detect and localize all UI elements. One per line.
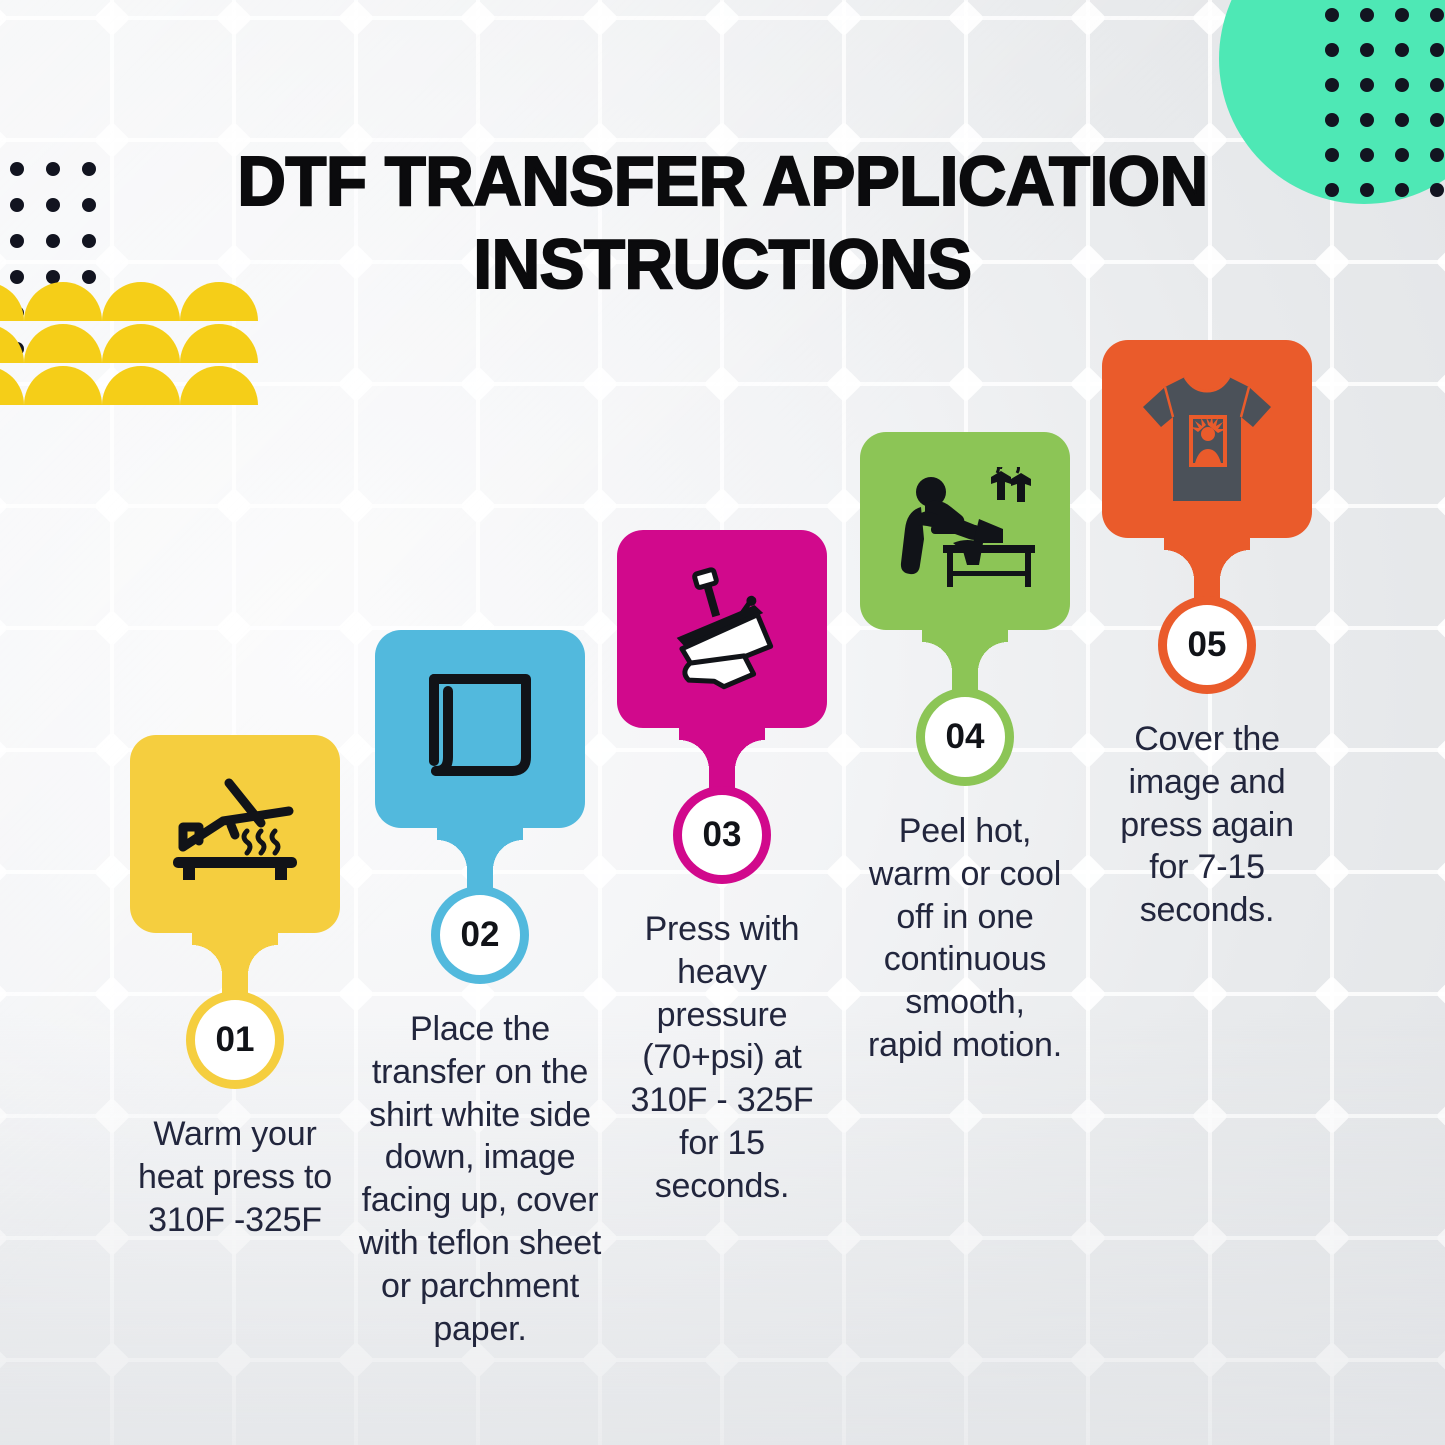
step-connector-03 bbox=[709, 726, 735, 792]
heat-press-open-icon bbox=[165, 775, 305, 893]
step-icon-card-02[interactable] bbox=[375, 630, 585, 828]
step-icon-card-03[interactable] bbox=[617, 530, 827, 728]
printed-tshirt-icon bbox=[1137, 371, 1277, 507]
step-number-badge-02: 02 bbox=[431, 886, 529, 984]
step-caption-04: Peel hot, warm or cool off in one contin… bbox=[867, 810, 1063, 1067]
step-item-04[interactable]: 04 Peel hot, warm or cool off in one con… bbox=[840, 432, 1090, 1067]
step-number-label: 04 bbox=[946, 717, 985, 757]
step-item-01[interactable]: 01 Warm your heat press to 310F -325F bbox=[110, 735, 360, 1241]
step-caption-05: Cover the image and press again for 7-15… bbox=[1103, 718, 1311, 932]
step-number-badge-03: 03 bbox=[673, 786, 771, 884]
heat-press-machine-icon bbox=[656, 563, 788, 695]
step-number-badge-05: 05 bbox=[1158, 596, 1256, 694]
step-caption-02: Place the transfer on the shirt white si… bbox=[352, 1008, 608, 1351]
person-ironing-icon bbox=[891, 467, 1039, 595]
step-icon-card-01[interactable] bbox=[130, 735, 340, 933]
step-icon-card-05[interactable] bbox=[1102, 340, 1312, 538]
step-number-label: 03 bbox=[703, 815, 742, 855]
step-item-02[interactable]: 02 Place the transfer on the shirt white… bbox=[355, 630, 605, 1351]
step-caption-03: Press with heavy pressure (70+psi) at 31… bbox=[611, 908, 833, 1208]
step-number-badge-01: 01 bbox=[186, 991, 284, 1089]
step-connector-02 bbox=[467, 826, 493, 892]
transfer-sheet-icon bbox=[420, 669, 540, 789]
step-caption-01: Warm your heat press to 310F -325F bbox=[119, 1113, 351, 1241]
step-icon-card-04[interactable] bbox=[860, 432, 1070, 630]
step-connector-04 bbox=[952, 628, 978, 694]
steps-container: 01 Warm your heat press to 310F -325F 02… bbox=[0, 0, 1445, 1445]
step-number-label: 02 bbox=[461, 915, 500, 955]
step-number-label: 01 bbox=[216, 1020, 255, 1060]
step-item-03[interactable]: 03 Press with heavy pressure (70+psi) at… bbox=[597, 530, 847, 1208]
step-number-label: 05 bbox=[1188, 625, 1227, 665]
step-item-05[interactable]: 05 Cover the image and press again for 7… bbox=[1082, 340, 1332, 932]
step-connector-05 bbox=[1194, 536, 1220, 602]
step-connector-01 bbox=[222, 931, 248, 997]
step-number-badge-04: 04 bbox=[916, 688, 1014, 786]
